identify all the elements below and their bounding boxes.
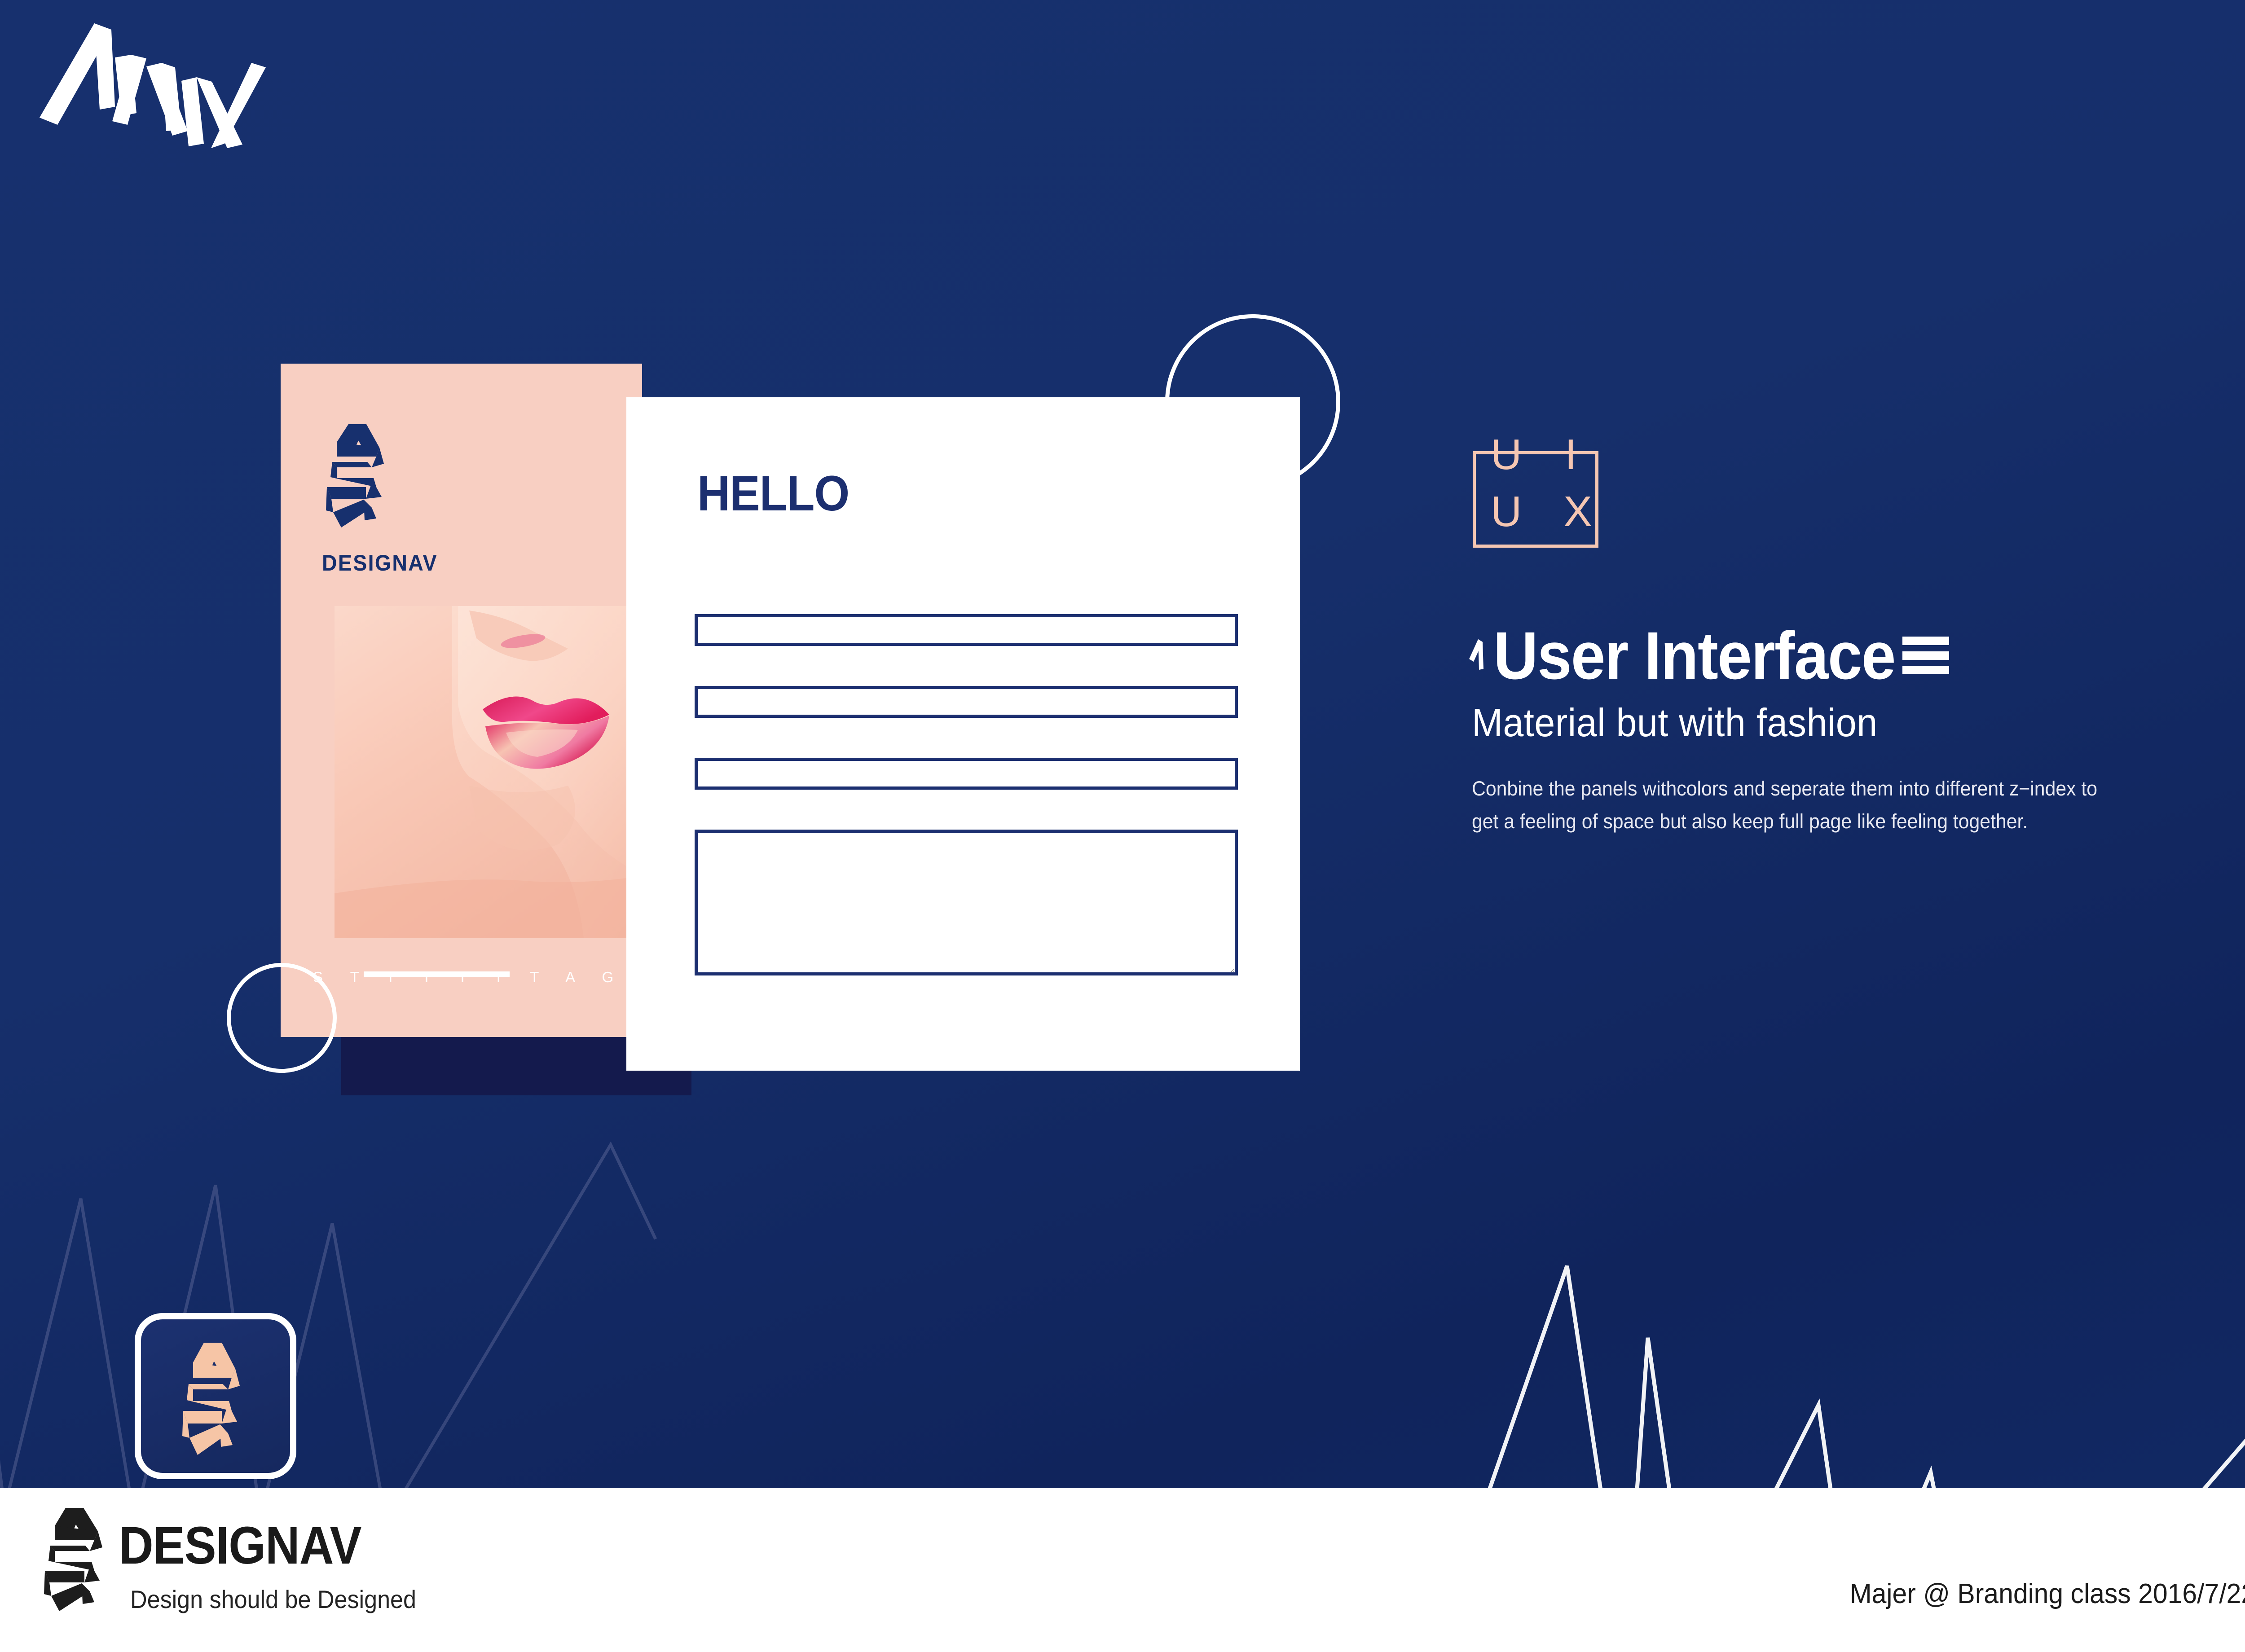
footer-credit: Majer @ Branding class 2016/7/22 (1849, 1578, 2245, 1610)
feature-subhead: Material but with fashion (1472, 700, 2186, 746)
ui-ux-badge-icon: U I U X (1468, 431, 1616, 550)
feature-body-text: Conbine the panels withcolors and sepera… (1472, 773, 2103, 838)
input-field-1[interactable] (695, 614, 1238, 646)
zigzag-watermark-left (0, 1068, 732, 1526)
caret-up-icon (1468, 639, 1492, 672)
stage-caption: S T T T T T T A G E (281, 962, 642, 993)
designav-app-icon[interactable] (135, 1313, 296, 1479)
poster-canvas: DESIGNAV (0, 0, 2245, 1652)
pink-card-wordmark: DESIGNAV (322, 550, 438, 576)
message-textarea[interactable] (695, 830, 1238, 975)
input-field-2[interactable] (695, 686, 1238, 718)
feature-column: U I U X User Interface Material but with… (1468, 431, 2232, 838)
feature-headline: User Interface (1493, 622, 1895, 689)
ui-ux-letter-i: I (1565, 433, 1577, 476)
footer-wordmark: DESIGNAV (119, 1515, 361, 1576)
designav-zigzag-logo (40, 1508, 130, 1611)
feature-headline-row: User Interface (1468, 622, 2232, 689)
hamburger-menu-icon[interactable] (1902, 637, 1949, 674)
form-title: HELLO (697, 469, 849, 518)
lips-photo (335, 606, 642, 938)
form-panel-card: HELLO (626, 397, 1300, 1071)
designav-zigzag-logo-peach (181, 1343, 258, 1455)
stage-strike-bar (364, 971, 510, 977)
ui-ux-letter-u-bottom: U (1491, 490, 1522, 533)
input-field-3[interactable] (695, 758, 1238, 790)
page-footer: DESIGNAV Design should be Designed Majer… (0, 1488, 2245, 1652)
outline-circle-small (227, 963, 337, 1073)
footer-tagline: Design should be Designed (130, 1585, 416, 1614)
hamburger-bar-3 (1902, 666, 1949, 674)
designav-zigzag-logo (323, 424, 404, 527)
ui-ux-letter-u-top: U (1491, 433, 1522, 476)
hamburger-bar-1 (1902, 637, 1949, 645)
ui-ux-letter-x: X (1563, 490, 1592, 533)
designav-zigzag-logo (31, 13, 283, 148)
brand-panel-card: DESIGNAV (281, 364, 642, 1037)
hamburger-bar-2 (1902, 651, 1949, 660)
